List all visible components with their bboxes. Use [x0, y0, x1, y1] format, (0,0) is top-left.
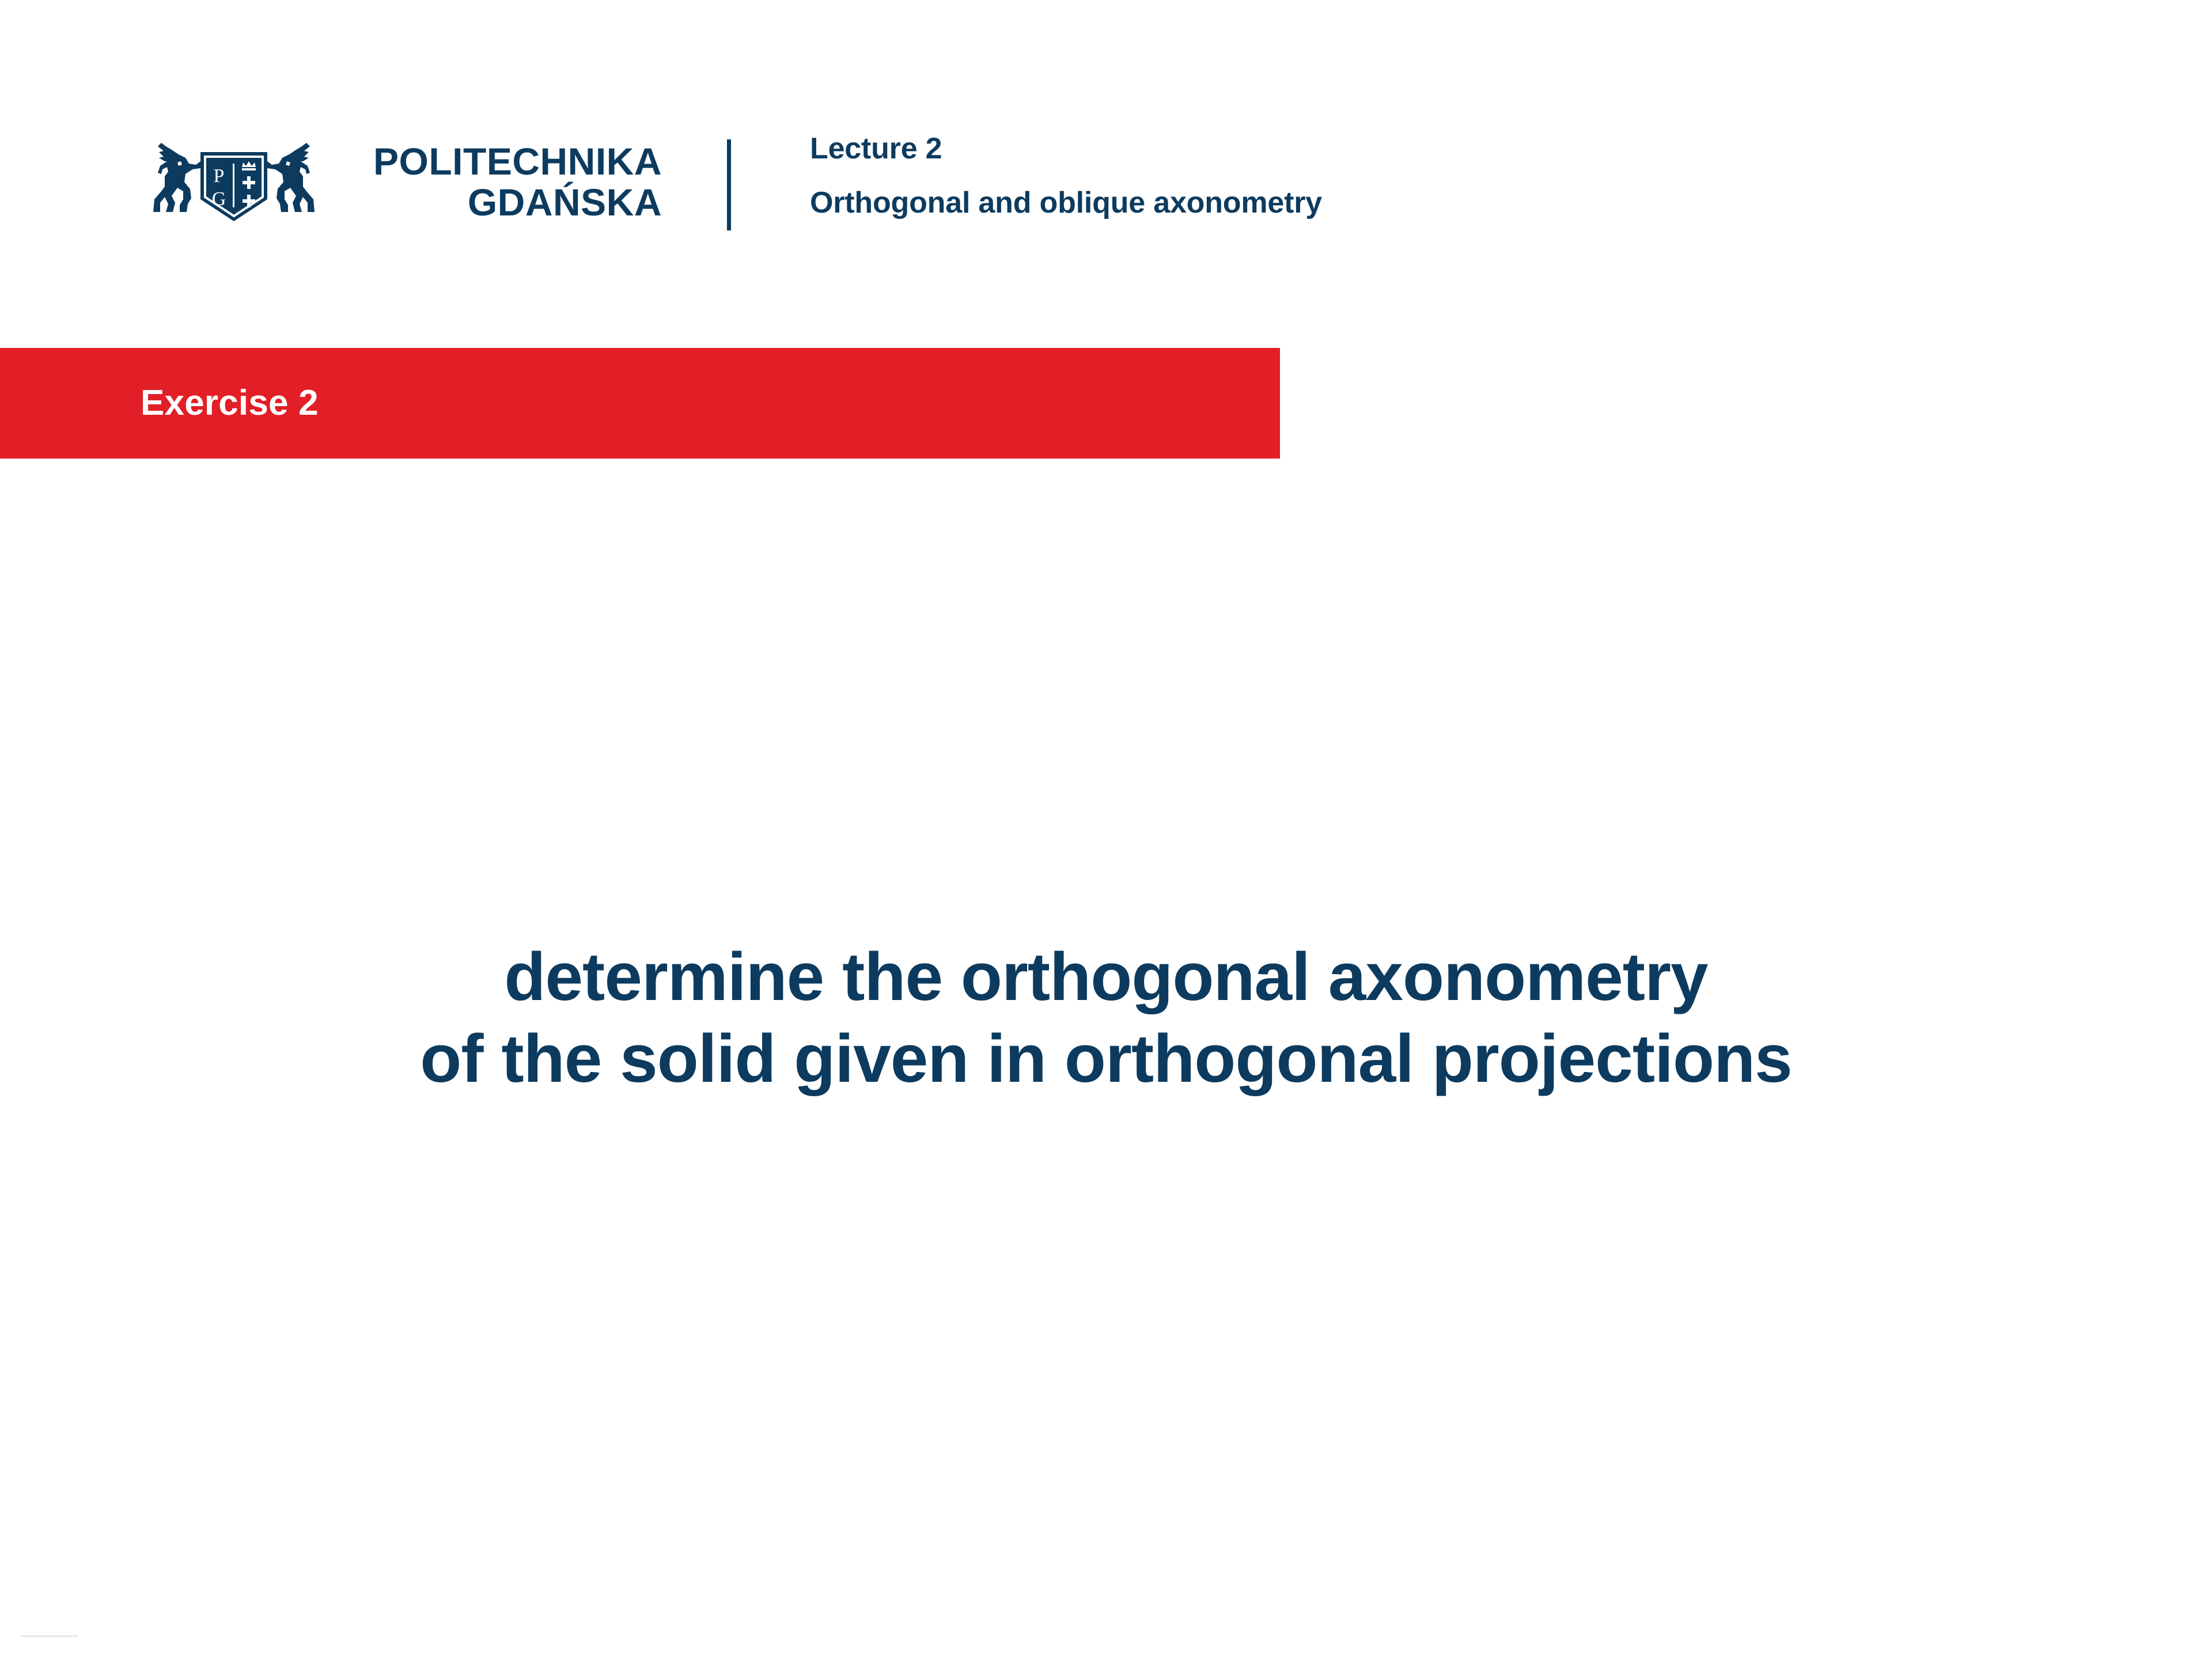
svg-text:G: G	[212, 188, 226, 210]
pg-coat-of-arms-icon: P G	[128, 131, 340, 233]
brand-name-line-2: GDAŃSKA	[373, 182, 662, 223]
svg-text:P: P	[214, 165, 225, 187]
brand-lockup: P G POLITECHNIKA GDAŃSKA	[128, 131, 662, 233]
header-divider	[727, 139, 731, 230]
brand-wordmark: POLITECHNIKA GDAŃSKA	[373, 141, 662, 222]
task-heading: determine the orthogonal axonometry of t…	[0, 937, 2212, 1100]
exercise-banner-label: Exercise 2	[141, 385, 319, 421]
slide-header: P G POLITECHNIKA GDAŃSKA Lecture 2 Ortho…	[0, 0, 2212, 271]
task-heading-line-1: determine the orthogonal axonometry	[0, 937, 2212, 1018]
footer-rule	[20, 1635, 78, 1637]
slide-canvas: P G POLITECHNIKA GDAŃSKA Lecture 2 Ortho…	[0, 0, 2212, 1659]
lecture-info: Lecture 2 Orthogonal and oblique axonome…	[810, 134, 1322, 218]
brand-name-line-1: POLITECHNIKA	[373, 140, 662, 183]
lecture-label: Lecture 2	[810, 134, 1322, 164]
task-heading-line-2: of the solid given in orthogonal project…	[0, 1018, 2212, 1100]
lecture-subtitle: Orthogonal and oblique axonometry	[810, 188, 1322, 218]
slide-body: determine the orthogonal axonometry of t…	[0, 459, 2212, 1659]
exercise-banner: Exercise 2	[0, 348, 1280, 459]
